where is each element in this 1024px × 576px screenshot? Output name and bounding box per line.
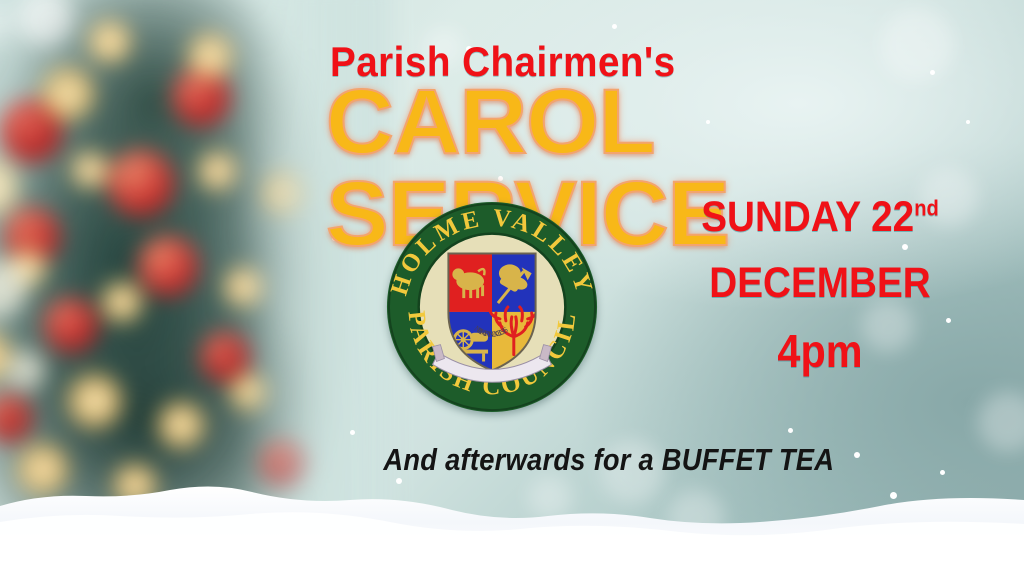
snow-drift xyxy=(0,466,1024,576)
snow-speck xyxy=(930,70,935,75)
carol-service-poster: Parish Chairmen's CAROL SERVICE SUNDAY 2… xyxy=(0,0,1024,576)
event-date-day: SUNDAY 22nd xyxy=(676,196,964,239)
tree-light-warm xyxy=(100,280,144,324)
tree-light-warm xyxy=(66,372,124,430)
tree-light-warm xyxy=(196,150,238,192)
event-date-suffix: nd xyxy=(914,196,939,221)
bokeh-circle xyxy=(6,350,46,390)
snow-speck xyxy=(946,318,951,323)
event-time: 4pm xyxy=(676,328,964,374)
bauble-red xyxy=(44,298,98,352)
bauble-red xyxy=(108,150,174,216)
event-date-month: DECEMBER xyxy=(676,262,964,305)
holme-valley-parish-council-crest: HOLME VALLEY PARISH COUNCIL xyxy=(383,196,601,418)
snow-speck xyxy=(350,430,355,435)
snow-speck xyxy=(612,24,617,29)
tree-light-warm xyxy=(40,66,96,122)
tree-light-warm xyxy=(70,150,110,190)
tree-light-warm xyxy=(88,20,132,64)
bokeh-circle xyxy=(978,392,1024,452)
tree-light-warm xyxy=(186,32,234,80)
bauble-red xyxy=(138,236,198,296)
snow-speck xyxy=(788,428,793,433)
event-date-day-text: SUNDAY 22 xyxy=(701,193,914,241)
